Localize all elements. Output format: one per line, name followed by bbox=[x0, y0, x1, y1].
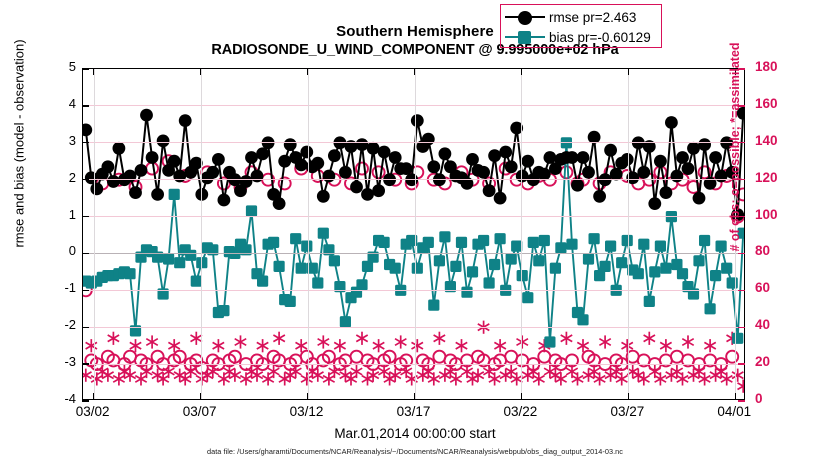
x-axis-tick bbox=[93, 68, 94, 75]
rmse-point bbox=[85, 171, 98, 184]
gridline-horizontal bbox=[83, 327, 744, 328]
y-axis-right-label: 20 bbox=[755, 354, 799, 369]
rmse-point bbox=[665, 116, 678, 129]
bias-point bbox=[616, 257, 627, 268]
legend[interactable]: rmse pr=2.463 bias pr=-0.60129 bbox=[500, 4, 662, 48]
x-axis-label: 03/27 bbox=[597, 404, 657, 419]
x-axis-tick bbox=[628, 393, 629, 400]
series-asterisk bbox=[83, 321, 744, 393]
rmse-point bbox=[411, 114, 424, 127]
rmse-point bbox=[251, 170, 264, 183]
series-layer bbox=[83, 69, 744, 399]
gridline-vertical bbox=[521, 69, 522, 399]
bias-point bbox=[705, 303, 716, 314]
y-axis-left-title: rmse and bias (model - observation) bbox=[12, 0, 27, 294]
bias-point bbox=[461, 287, 472, 298]
bias-point bbox=[633, 268, 644, 279]
rmse-marker-icon bbox=[505, 9, 545, 25]
x-axis-tick bbox=[93, 393, 94, 400]
bias-point bbox=[522, 292, 533, 303]
bias-point bbox=[174, 257, 185, 268]
bias-point bbox=[296, 263, 307, 274]
rmse-point bbox=[339, 166, 352, 179]
bias-point bbox=[555, 242, 566, 253]
bias-point bbox=[390, 263, 401, 274]
obs-possible-point bbox=[560, 166, 572, 178]
rmse-point bbox=[284, 138, 297, 151]
x-axis-caption: Mar.01,2014 00:00:00 start bbox=[0, 426, 830, 441]
rmse-point bbox=[505, 160, 518, 173]
rmse-point bbox=[544, 151, 557, 164]
rmse-point bbox=[488, 149, 501, 162]
x-axis-tick bbox=[414, 68, 415, 75]
rmse-point bbox=[107, 175, 120, 188]
rmse-point bbox=[317, 190, 330, 203]
bias-point bbox=[340, 316, 351, 327]
bias-point bbox=[356, 279, 367, 290]
x-axis-label: 03/02 bbox=[63, 404, 123, 419]
bias-point bbox=[456, 237, 467, 248]
rmse-point bbox=[693, 192, 706, 205]
rmse-point bbox=[240, 175, 253, 188]
gridline-horizontal bbox=[83, 364, 744, 365]
y-axis-left-tick bbox=[82, 68, 89, 69]
bias-point bbox=[412, 263, 423, 274]
y-axis-left-tick bbox=[82, 253, 89, 254]
bias-point bbox=[605, 241, 616, 252]
y-axis-right-label: 160 bbox=[755, 96, 799, 111]
rmse-point bbox=[273, 197, 286, 210]
rmse-point bbox=[715, 170, 728, 183]
y-axis-left-tick bbox=[82, 363, 89, 364]
y-axis-right-label: 180 bbox=[755, 59, 799, 74]
y-axis-right-label: 80 bbox=[755, 243, 799, 258]
x-axis-tick bbox=[307, 393, 308, 400]
y-axis-left-label: 1 bbox=[42, 207, 76, 222]
y-axis-left-tick bbox=[82, 290, 89, 291]
bias-point bbox=[268, 237, 279, 248]
gridline-vertical bbox=[415, 69, 416, 399]
y-axis-left-label: 0 bbox=[42, 243, 76, 258]
rmse-point bbox=[466, 153, 479, 166]
gridline-horizontal bbox=[83, 290, 744, 291]
plot-canvas bbox=[83, 69, 744, 399]
rmse-point bbox=[195, 188, 208, 201]
rmse-point bbox=[499, 146, 512, 159]
rmse-point bbox=[676, 151, 689, 164]
bias-point bbox=[539, 235, 550, 246]
plot-area bbox=[82, 68, 745, 400]
x-axis-tick bbox=[521, 393, 522, 400]
bias-point bbox=[583, 253, 594, 264]
y-axis-right-label: 60 bbox=[755, 280, 799, 295]
rmse-point bbox=[687, 142, 700, 155]
gridline-vertical bbox=[308, 69, 309, 399]
rmse-point bbox=[295, 159, 308, 172]
bias-point bbox=[257, 276, 268, 287]
bias-point bbox=[495, 233, 506, 244]
rmse-point bbox=[311, 157, 324, 170]
chart-subtitle: RADIOSONDE_U_WIND_COMPONENT @ 9.995000e+… bbox=[0, 41, 830, 60]
rmse-point bbox=[709, 151, 722, 164]
bias-point bbox=[638, 239, 649, 250]
bias-point bbox=[439, 231, 450, 242]
bias-point bbox=[450, 261, 461, 272]
rmse-point bbox=[356, 138, 369, 151]
page-title: Southern Hemisphere bbox=[0, 22, 830, 41]
bias-point bbox=[169, 189, 180, 200]
rmse-point bbox=[477, 166, 490, 179]
x-axis-label: 03/07 bbox=[170, 404, 230, 419]
y-axis-left-label: 5 bbox=[42, 59, 76, 74]
bias-point bbox=[566, 239, 577, 250]
bias-point bbox=[467, 266, 478, 277]
bias-point bbox=[163, 253, 174, 264]
rmse-point bbox=[212, 153, 225, 166]
x-axis-tick bbox=[735, 393, 736, 400]
rmse-point bbox=[577, 151, 590, 164]
bias-point bbox=[218, 305, 229, 316]
bias-point bbox=[589, 233, 600, 244]
obs-possible-point bbox=[726, 351, 738, 363]
chart-root: Southern Hemisphere RADIOSONDE_U_WIND_CO… bbox=[0, 0, 830, 470]
rmse-point bbox=[582, 166, 595, 179]
rmse-point bbox=[389, 151, 402, 164]
bias-point bbox=[285, 296, 296, 307]
x-axis-tick bbox=[521, 68, 522, 75]
bias-point bbox=[693, 255, 704, 266]
chart-title-block: Southern Hemisphere RADIOSONDE_U_WIND_CO… bbox=[0, 22, 830, 60]
bias-point bbox=[533, 255, 544, 266]
rmse-point bbox=[151, 188, 164, 201]
bias-point bbox=[699, 235, 710, 246]
rmse-point bbox=[654, 155, 667, 168]
y-axis-left-tick bbox=[82, 179, 89, 180]
bias-point bbox=[274, 261, 285, 272]
bias-point bbox=[489, 259, 500, 270]
rmse-point bbox=[179, 114, 192, 127]
rmse-point bbox=[427, 160, 440, 173]
bias-point bbox=[196, 257, 207, 268]
rmse-point bbox=[140, 109, 153, 122]
bias-point bbox=[732, 333, 743, 344]
bias-point bbox=[649, 266, 660, 277]
legend-item-rmse[interactable]: rmse pr=2.463 bbox=[505, 7, 636, 27]
y-axis-right-label: 100 bbox=[755, 207, 799, 222]
rmse-point bbox=[328, 149, 341, 162]
y-axis-right-label: 140 bbox=[755, 133, 799, 148]
bias-point bbox=[434, 255, 445, 266]
legend-label-rmse: rmse pr=2.463 bbox=[549, 10, 636, 25]
gridline-horizontal bbox=[83, 105, 744, 106]
rmse-point bbox=[129, 186, 142, 199]
rmse-point bbox=[400, 162, 413, 175]
rmse-point bbox=[494, 192, 507, 205]
gridline-vertical bbox=[94, 69, 95, 399]
bias-point bbox=[185, 250, 196, 261]
obs-possible-point bbox=[146, 163, 158, 175]
x-axis-label: 03/17 bbox=[384, 404, 444, 419]
bias-point bbox=[379, 237, 390, 248]
legend-item-bias[interactable]: bias pr=-0.60129 bbox=[505, 27, 651, 47]
rmse-point bbox=[604, 144, 617, 157]
bias-point bbox=[544, 336, 555, 347]
rmse-point bbox=[135, 164, 148, 177]
bias-point bbox=[423, 237, 434, 248]
rmse-point bbox=[113, 142, 126, 155]
rmse-point bbox=[571, 179, 584, 192]
rmse-point bbox=[637, 166, 650, 179]
rmse-point bbox=[367, 142, 380, 155]
bias-point bbox=[290, 233, 301, 244]
y-axis-left-tick bbox=[82, 142, 89, 143]
bias-point bbox=[312, 277, 323, 288]
bias-point bbox=[484, 277, 495, 288]
bias-point bbox=[677, 268, 688, 279]
rmse-point bbox=[483, 184, 496, 197]
x-axis-label: 03/22 bbox=[490, 404, 550, 419]
bias-point bbox=[318, 228, 329, 239]
rmse-point bbox=[350, 181, 363, 194]
rmse-point bbox=[361, 188, 374, 201]
rmse-point bbox=[323, 170, 336, 183]
rmse-point bbox=[422, 133, 435, 146]
rmse-point bbox=[593, 190, 606, 203]
bias-point bbox=[428, 300, 439, 311]
y-axis-left-label: 2 bbox=[42, 170, 76, 185]
bias-point bbox=[406, 235, 417, 246]
rmse-point bbox=[83, 124, 92, 137]
rmse-point bbox=[124, 170, 137, 183]
y-axis-right-title: # of obs: o=possible; *=assimilated bbox=[728, 0, 742, 297]
bias-point bbox=[716, 241, 727, 252]
rmse-point bbox=[146, 151, 159, 164]
bias-point bbox=[600, 261, 611, 272]
rmse-point bbox=[660, 186, 673, 199]
bias-point bbox=[124, 268, 135, 279]
x-axis-label: 04/01 bbox=[704, 404, 764, 419]
y-axis-right-tick bbox=[738, 400, 745, 401]
series-filled-circle bbox=[83, 107, 744, 221]
rmse-point bbox=[102, 160, 115, 173]
rmse-point bbox=[372, 184, 385, 197]
rmse-point bbox=[439, 147, 452, 160]
x-axis-tick bbox=[307, 68, 308, 75]
bias-point bbox=[660, 263, 671, 274]
x-axis-label: 03/12 bbox=[277, 404, 337, 419]
y-axis-left-tick bbox=[82, 327, 89, 328]
data-file-path: data file: /Users/gharamti/Documents/NCA… bbox=[0, 447, 830, 456]
y-axis-right-label: 40 bbox=[755, 317, 799, 332]
legend-label-bias: bias pr=-0.60129 bbox=[549, 30, 651, 45]
bias-point bbox=[478, 235, 489, 246]
rmse-point bbox=[566, 151, 579, 164]
gridline-vertical bbox=[628, 69, 629, 399]
bias-point bbox=[644, 296, 655, 307]
rmse-point bbox=[90, 183, 103, 196]
y-axis-left-tick bbox=[82, 105, 89, 106]
x-axis-tick bbox=[414, 393, 415, 400]
rmse-point bbox=[682, 162, 695, 175]
gridline-horizontal bbox=[83, 216, 744, 217]
bias-point bbox=[577, 314, 588, 325]
x-axis-tick bbox=[200, 68, 201, 75]
rmse-point bbox=[378, 146, 391, 159]
rmse-point bbox=[157, 135, 170, 148]
y-axis-right-tick bbox=[738, 363, 745, 364]
rmse-point bbox=[278, 155, 291, 168]
bias-point bbox=[329, 255, 340, 266]
rmse-point bbox=[218, 194, 231, 207]
bias-point bbox=[655, 241, 666, 252]
rmse-point bbox=[648, 197, 661, 210]
y-axis-left-label: -3 bbox=[42, 354, 76, 369]
y-axis-left-label: 3 bbox=[42, 133, 76, 148]
rmse-point bbox=[698, 138, 711, 151]
y-axis-left-label: 4 bbox=[42, 96, 76, 111]
y-axis-left-tick bbox=[82, 400, 89, 401]
bias-point bbox=[528, 237, 539, 248]
rmse-point bbox=[621, 153, 634, 166]
bias-point bbox=[622, 235, 633, 246]
rmse-point bbox=[245, 151, 258, 164]
gridline-horizontal bbox=[83, 142, 744, 143]
x-axis-tick bbox=[628, 68, 629, 75]
zero-line bbox=[83, 253, 744, 254]
rmse-point bbox=[521, 155, 534, 168]
y-axis-left-tick bbox=[82, 216, 89, 217]
rmse-point bbox=[256, 147, 269, 160]
x-axis-tick bbox=[200, 393, 201, 400]
bias-marker-icon bbox=[505, 29, 545, 45]
gridline-horizontal bbox=[83, 179, 744, 180]
bias-point bbox=[246, 205, 257, 216]
bias-point bbox=[506, 253, 517, 264]
y-axis-right-label: 120 bbox=[755, 170, 799, 185]
rmse-point bbox=[173, 170, 186, 183]
y-axis-left-label: -2 bbox=[42, 317, 76, 332]
y-axis-right-tick bbox=[738, 327, 745, 328]
rmse-point bbox=[206, 166, 219, 179]
bias-point bbox=[550, 263, 561, 274]
rmse-point bbox=[671, 170, 684, 183]
gridline-vertical bbox=[201, 69, 202, 399]
y-axis-left-label: -1 bbox=[42, 280, 76, 295]
bias-point bbox=[710, 270, 721, 281]
rmse-point bbox=[168, 155, 181, 168]
